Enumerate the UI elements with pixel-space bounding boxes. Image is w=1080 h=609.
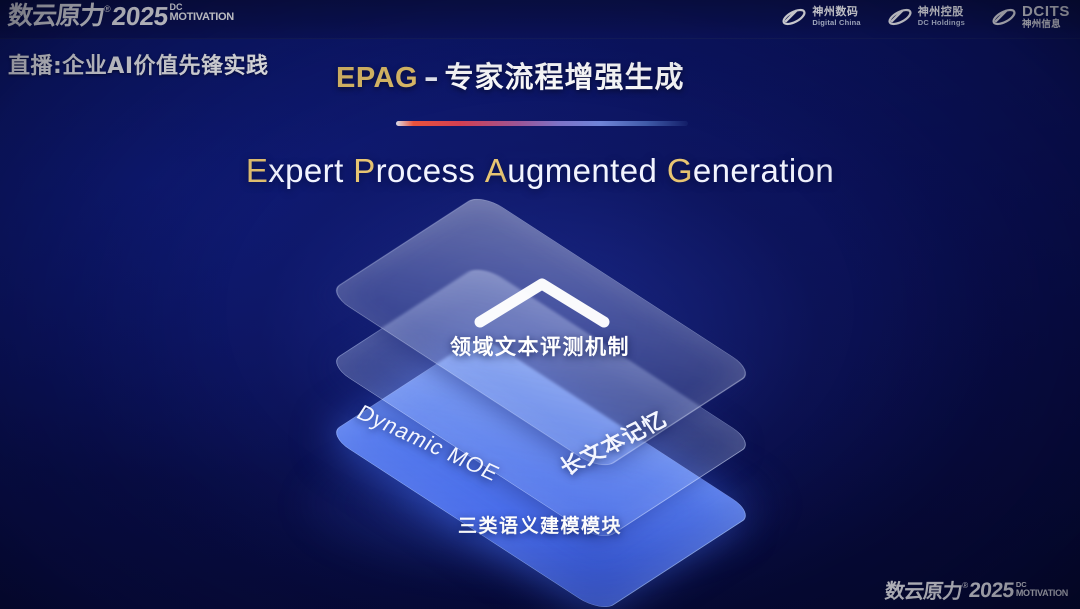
presentation-slide: 数云原力 ® 2025 DC MOTIVATION 直播:企业AI价值先锋实践 … bbox=[0, 0, 1080, 609]
swoosh-icon bbox=[991, 6, 1017, 28]
partner-logo-dcits: DCITS 神州信息 bbox=[991, 4, 1070, 30]
swoosh-icon bbox=[781, 6, 807, 28]
acronym-expansion: Expert Process Augmented Generation bbox=[0, 152, 1080, 190]
live-banner-text: 直播:企业AI价值先锋实践 bbox=[8, 48, 269, 80]
partner-name-cn: 神州信息 bbox=[1022, 20, 1070, 30]
expansion-rest-p: rocess bbox=[376, 152, 476, 189]
title-acronym: EPAG bbox=[336, 62, 418, 94]
bottom-layer-glow bbox=[300, 430, 780, 580]
watermark-dc-line2: MOTIVATION bbox=[1016, 589, 1068, 598]
watermark-logo: 数云原力 ® 2025 DC MOTIVATION bbox=[885, 579, 1068, 603]
brand-year: 2025 bbox=[110, 1, 169, 31]
expansion-rest-a: ugmented bbox=[507, 152, 657, 189]
layer-label-middle-right: 长文本记忆 bbox=[552, 403, 673, 482]
partner-logo-group: 神州数码 Digital China 神州控股 DC Holdings DCIT… bbox=[781, 4, 1070, 30]
partner-name-en: DCITS bbox=[1022, 4, 1070, 20]
expansion-cap-a: A bbox=[485, 152, 507, 189]
chevron-up-icon bbox=[472, 272, 612, 330]
gradient-divider bbox=[396, 121, 688, 126]
layer-label-middle-left: Dynamic MOE bbox=[352, 400, 505, 487]
page-title: EPAG–专家流程增强生成 bbox=[336, 54, 685, 96]
brand-logo: 数云原力 ® 2025 DC MOTIVATION bbox=[8, 1, 234, 31]
diagram-layer-bottom bbox=[327, 335, 755, 609]
expansion-cap-g: G bbox=[667, 152, 693, 189]
title-dash: – bbox=[418, 60, 445, 94]
title-chinese: 专家流程增强生成 bbox=[445, 60, 685, 94]
watermark-year: 2025 bbox=[968, 579, 1015, 603]
expansion-rest-e: xpert bbox=[268, 152, 343, 189]
brand-name-cn: 数云原力 bbox=[6, 1, 105, 31]
partner-logo-dc-holdings: 神州控股 DC Holdings bbox=[887, 6, 965, 28]
watermark-name-cn: 数云原力 bbox=[884, 579, 963, 603]
brand-dc-motivation: DC MOTIVATION bbox=[170, 1, 234, 23]
swoosh-icon bbox=[887, 6, 913, 28]
watermark-dc-motivation: DC MOTIVATION bbox=[1016, 579, 1068, 598]
layer-label-bottom: 三类语义建模模块 bbox=[0, 511, 1080, 538]
brand-dc-line2: MOTIVATION bbox=[170, 12, 234, 23]
partner-name-cn: 神州数码 bbox=[812, 7, 860, 19]
partner-name-en: Digital China bbox=[812, 19, 860, 27]
expansion-rest-g: eneration bbox=[693, 152, 834, 189]
expansion-cap-e: E bbox=[246, 152, 268, 189]
watermark-registered-mark: ® bbox=[962, 579, 968, 591]
partner-name-cn: 神州控股 bbox=[918, 7, 965, 19]
partner-name-en: DC Holdings bbox=[918, 19, 965, 27]
layer-label-top: 领域文本评测机制 bbox=[0, 331, 1080, 361]
partner-logo-digital-china: 神州数码 Digital China bbox=[781, 6, 860, 28]
expansion-cap-p: P bbox=[353, 152, 375, 189]
